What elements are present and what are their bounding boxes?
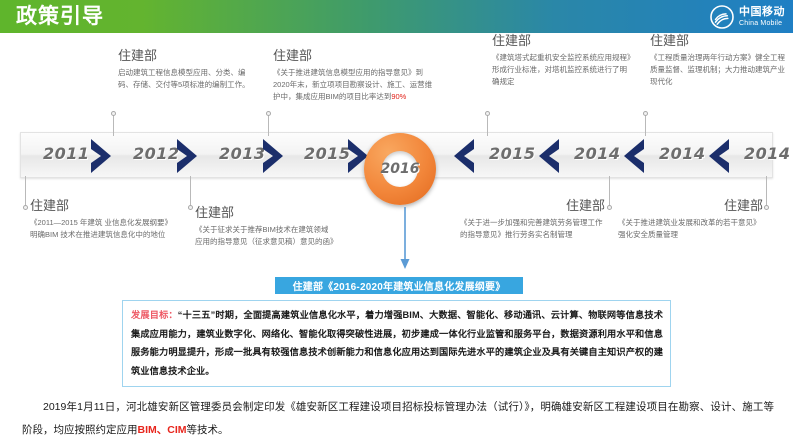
timeline-year-2014-a: 2014 bbox=[574, 144, 621, 163]
timeline-year-2015-b: 2015 bbox=[489, 144, 536, 163]
policy-card-bottom-4: 住建部 《关于推进建筑业发展和改革的若干意见》强化安全质量管理 bbox=[618, 198, 763, 241]
chevron-left-icon bbox=[620, 138, 646, 174]
connector-dot bbox=[485, 111, 490, 116]
card-title: 住建部 bbox=[195, 205, 335, 221]
card-body: 《2011—2015 年建筑 业信息化发展纲要》明确BIM 技术在推进建筑信息化… bbox=[30, 217, 170, 241]
connector-dot bbox=[23, 205, 28, 210]
connector-line bbox=[487, 114, 488, 136]
timeline-year-2012: 2012 bbox=[133, 144, 180, 163]
card-title: 住建部 bbox=[118, 48, 258, 64]
chevron-right-icon bbox=[175, 138, 201, 174]
brand-logo: 中国移动 China Mobile bbox=[710, 4, 785, 30]
card-body: 《关于推进建筑信息模型应用的指导意见》到2020年末，新立项项目勘察设计、施工、… bbox=[273, 67, 438, 103]
development-goal-box: 发展目标：“十三五”时期，全面提高建筑业信息化水平，着力增强BIM、大数据、智能… bbox=[122, 300, 671, 387]
card-title: 住建部 bbox=[618, 198, 763, 214]
policy-card-top-4: 住建部 《工程质量治理两年行动方案》健全工程质量监督、监理机制；大力推动建筑产业… bbox=[650, 33, 790, 88]
policy-card-top-3: 住建部 《建筑塔式起重机安全监控系统应用规程》形成行业标准，对塔机监控系统进行了… bbox=[492, 33, 632, 88]
connector-dot bbox=[266, 111, 271, 116]
card-body: 《关于进一步加强和完善建筑劳务管理工作的指导意见》推行劳务实名制管理 bbox=[460, 217, 605, 241]
slide-root: 政策引导 中国移动 China Mobile 2011 2012 2013 20… bbox=[0, 0, 793, 446]
connector-line bbox=[25, 176, 26, 208]
timeline-year-2013: 2013 bbox=[219, 144, 266, 163]
goal-label: 发展目标： bbox=[131, 310, 178, 320]
page-title: 政策引导 bbox=[16, 3, 104, 31]
card-title: 住建部 bbox=[273, 48, 438, 64]
timeline-year-2011: 2011 bbox=[43, 144, 90, 163]
connector-line bbox=[609, 176, 610, 208]
connector-line bbox=[113, 114, 114, 136]
policy-card-bottom-2: 住建部 《关于征求关于推荐BIM技术在建筑领域应用的指导意见（征求意见稿）意见的… bbox=[195, 205, 335, 248]
chevron-right-icon bbox=[261, 138, 287, 174]
policy-card-bottom-1: 住建部 《2011—2015 年建筑 业信息化发展纲要》明确BIM 技术在推进建… bbox=[30, 198, 170, 241]
chevron-right-icon bbox=[89, 138, 115, 174]
card-body-highlight: 90% bbox=[391, 92, 406, 101]
logo-text-en: China Mobile bbox=[739, 20, 785, 27]
outline-banner: 住建部《2016-2020年建筑业信息化发展纲要》 bbox=[275, 277, 523, 294]
card-body: 《关于推进建筑业发展和改革的若干意见》强化安全质量管理 bbox=[618, 217, 763, 241]
chevron-left-icon bbox=[705, 138, 731, 174]
card-body: 启动建筑工程信息模型应用、分类、编码、存储、交付等5项标准的编制工作。 bbox=[118, 67, 258, 91]
timeline-highlight-2016: 2016 bbox=[364, 133, 436, 205]
arrow-down-icon bbox=[399, 207, 411, 271]
card-body: 《关于征求关于推荐BIM技术在建筑领域应用的指导意见（征求意见稿）意见的函》 bbox=[195, 224, 335, 248]
policy-card-bottom-3: 住建部 《关于进一步加强和完善建筑劳务管理工作的指导意见》推行劳务实名制管理 bbox=[460, 198, 605, 241]
footer-highlight: BIM、CIM bbox=[138, 424, 187, 436]
connector-line bbox=[766, 176, 767, 208]
card-title: 住建部 bbox=[460, 198, 605, 214]
connector-dot bbox=[607, 205, 612, 210]
timeline-year-2016: 2016 bbox=[381, 161, 420, 177]
footer-part2: 等技术。 bbox=[187, 424, 229, 436]
policy-card-top-1: 住建部 启动建筑工程信息模型应用、分类、编码、存储、交付等5项标准的编制工作。 bbox=[118, 48, 258, 91]
footer-part1: 2019年1月11日，河北雄安新区管理委员会制定印发《雄安新区工程建设项目招标投… bbox=[22, 401, 774, 436]
footer-paragraph: 2019年1月11日，河北雄安新区管理委员会制定印发《雄安新区工程建设项目招标投… bbox=[22, 396, 774, 442]
card-body-text: 《关于推进建筑信息模型应用的指导意见》到2020年末，新立项项目勘察设计、施工、… bbox=[273, 68, 432, 101]
card-body: 《工程质量治理两年行动方案》健全工程质量监督、监理机制；大力推动建筑产业现代化 bbox=[650, 52, 790, 88]
card-title: 住建部 bbox=[650, 33, 790, 49]
page-header: 政策引导 中国移动 China Mobile bbox=[0, 0, 793, 33]
goal-body: “十三五”时期，全面提高建筑业信息化水平，着力增强BIM、大数据、智能化、移动通… bbox=[131, 310, 663, 376]
logo-text-cn: 中国移动 bbox=[739, 7, 785, 18]
card-body: 《建筑塔式起重机安全监控系统应用规程》形成行业标准，对塔机监控系统进行了明确规定 bbox=[492, 52, 632, 88]
card-title: 住建部 bbox=[30, 198, 170, 214]
connector-dot bbox=[764, 205, 769, 210]
timeline-year-2014-c: 2014 bbox=[744, 144, 791, 163]
china-mobile-swirl-icon bbox=[710, 5, 734, 29]
card-title: 住建部 bbox=[492, 33, 632, 49]
connector-line bbox=[268, 114, 269, 136]
timeline-year-2014-b: 2014 bbox=[659, 144, 706, 163]
timeline-year-2015-a: 2015 bbox=[304, 144, 351, 163]
chevron-left-icon bbox=[450, 138, 476, 174]
connector-dot bbox=[643, 111, 648, 116]
policy-card-top-2: 住建部 《关于推进建筑信息模型应用的指导意见》到2020年末，新立项项目勘察设计… bbox=[273, 48, 438, 103]
connector-dot bbox=[188, 205, 193, 210]
connector-line bbox=[190, 176, 191, 208]
development-goal-text: 发展目标：“十三五”时期，全面提高建筑业信息化水平，着力增强BIM、大数据、智能… bbox=[131, 306, 663, 380]
connector-line bbox=[645, 114, 646, 136]
connector-dot bbox=[111, 111, 116, 116]
chevron-left-icon bbox=[535, 138, 561, 174]
